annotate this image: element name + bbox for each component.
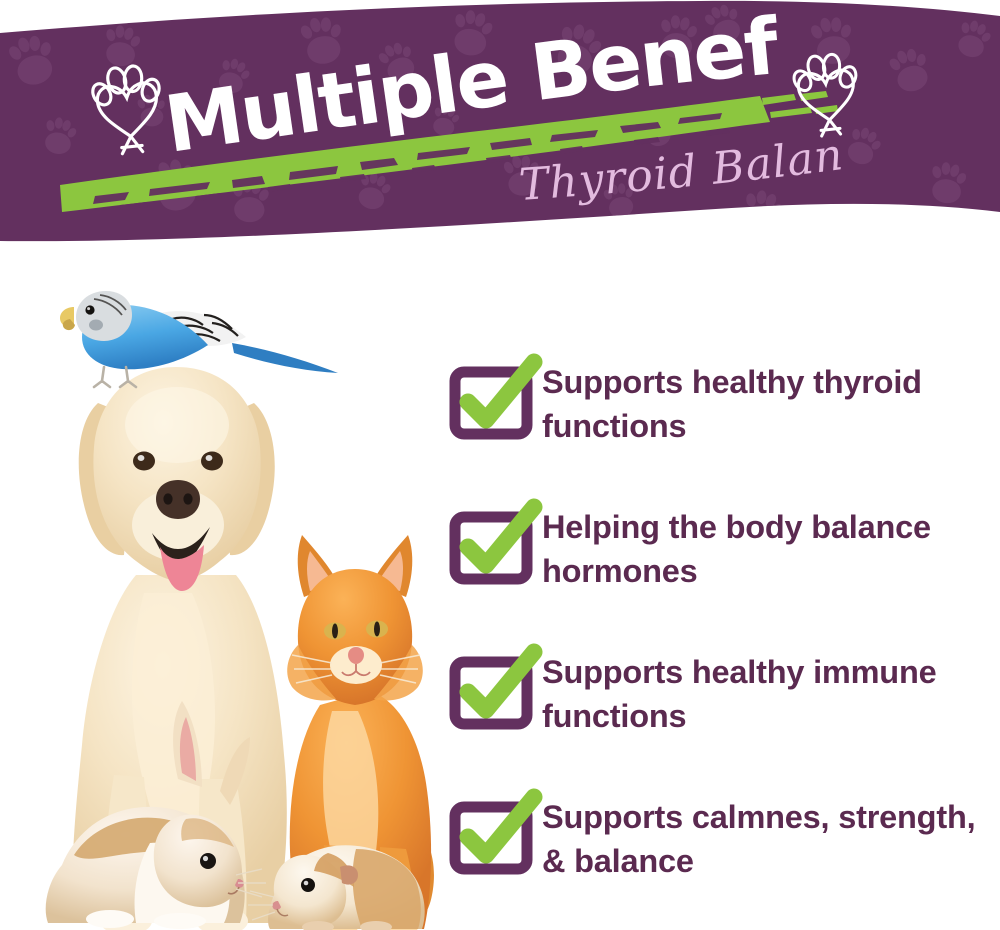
product-benefits-infographic: Multiple Benefits Thyroid Balance xyxy=(0,0,1000,930)
checkbox-checked-icon xyxy=(450,793,542,873)
benefit-text: Supports healthy immune functions xyxy=(542,640,990,738)
benefit-text: Helping the body balance hormones xyxy=(542,495,990,593)
benefit-item: Supports healthy immune functions xyxy=(450,640,990,785)
header-banner: Multiple Benefits Thyroid Balance xyxy=(0,0,1000,255)
benefit-item: Supports healthy thyroid functions xyxy=(450,350,990,495)
checkbox-checked-icon xyxy=(450,648,542,728)
benefit-item: Supports calmnes, strength, & balance xyxy=(450,785,990,930)
benefit-text: Supports healthy thyroid functions xyxy=(542,350,990,448)
pet-group-photo xyxy=(40,275,460,930)
benefit-item: Helping the body balance hormones xyxy=(450,495,990,640)
checkbox-checked-icon xyxy=(450,358,542,438)
benefit-text: Supports calmnes, strength, & balance xyxy=(542,785,990,883)
benefits-list: Supports healthy thyroid functions Helpi… xyxy=(450,350,990,930)
checkbox-checked-icon xyxy=(450,503,542,583)
